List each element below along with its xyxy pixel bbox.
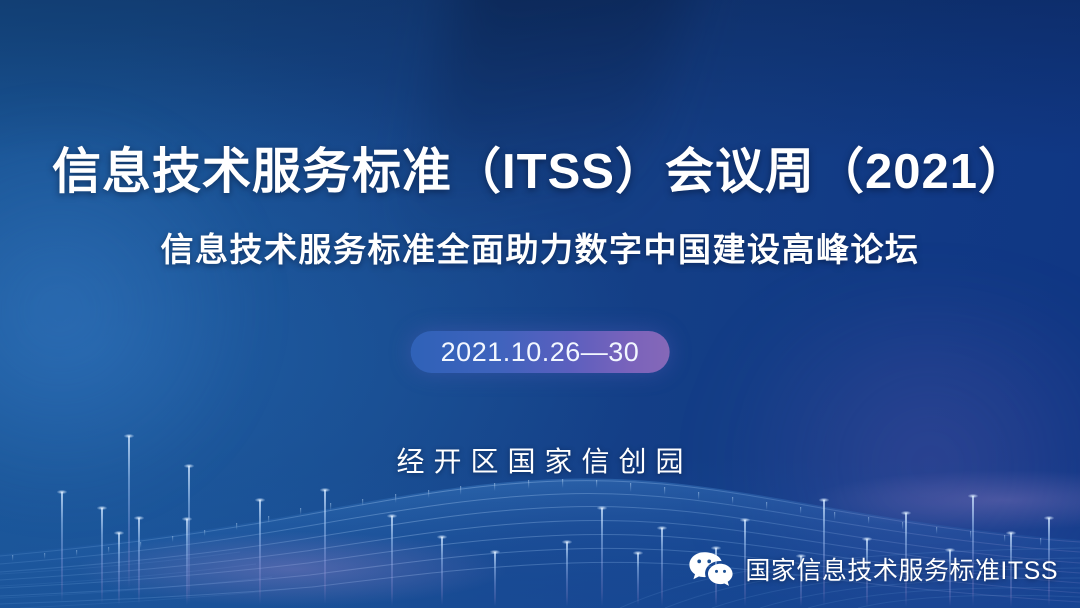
poster-content: 信息技术服务标准（ITSS）会议周（2021） 信息技术服务标准全面助力数字中国…	[0, 0, 1080, 608]
event-poster: 信息技术服务标准（ITSS）会议周（2021） 信息技术服务标准全面助力数字中国…	[0, 0, 1080, 608]
poster-title: 信息技术服务标准（ITSS）会议周（2021）	[0, 146, 1080, 200]
event-date-badge: 2021.10.26—30	[411, 331, 670, 373]
wechat-account-name: 国家信息技术服务标准ITSS	[745, 551, 1058, 587]
event-venue: 经开区国家信创园	[0, 440, 1080, 480]
poster-subtitle: 信息技术服务标准全面助力数字中国建设高峰论坛	[0, 230, 1080, 270]
wechat-watermark: 国家信息技术服务标准ITSS	[688, 550, 1058, 588]
wechat-icon	[688, 550, 734, 588]
event-date-text: 2021.10.26—30	[441, 337, 640, 368]
